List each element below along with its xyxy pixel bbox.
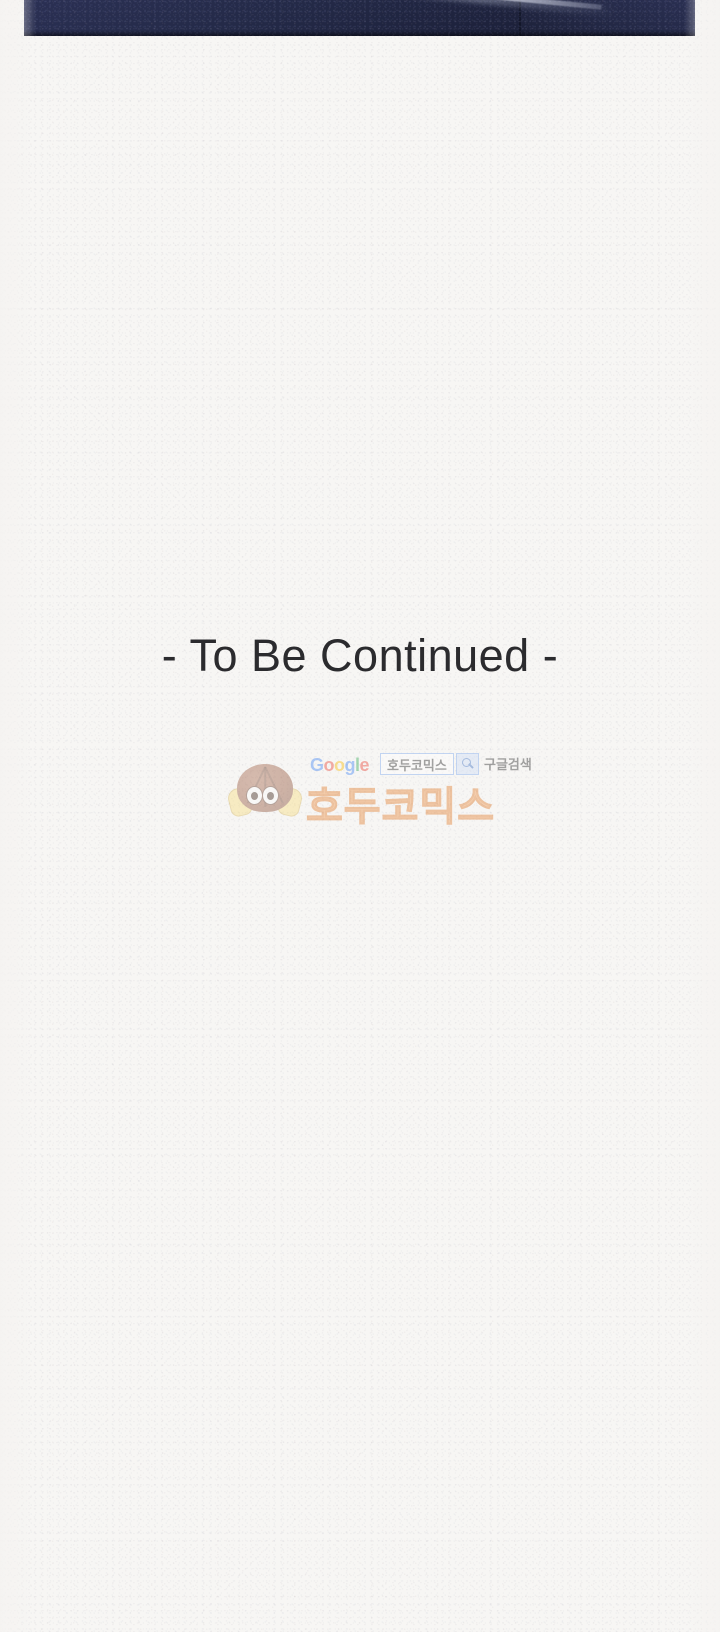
brand-wordmark: 호두코믹스 (306, 774, 495, 832)
shell-line (264, 767, 266, 807)
search-icon[interactable] (456, 753, 479, 775)
shell-line (247, 767, 266, 804)
google-logo: Google (310, 755, 369, 776)
mascot-hand-left (226, 786, 254, 818)
shell-line (264, 767, 283, 804)
to-be-continued-caption: - To Be Continued - (0, 630, 720, 682)
paper-grain-texture (0, 0, 720, 1632)
mascot-hand-right (276, 786, 304, 818)
google-logo-letter-e: e (360, 755, 370, 775)
mascot-pupil (267, 792, 274, 800)
search-input[interactable]: 호두코믹스 (380, 753, 454, 775)
mascot-eye-right (262, 786, 279, 805)
panel-bottom-shadow (24, 30, 695, 36)
comic-panel-strip (24, 0, 695, 36)
mascot-pupil (251, 792, 258, 800)
google-logo-letter-g1: G (310, 755, 324, 775)
google-logo-letter-l: l (355, 755, 360, 775)
mascot-eye-left (246, 786, 263, 805)
mascot-shell (237, 764, 293, 812)
comic-page: - To Be Continued - Google 호두코믹스 구글검색 호두… (0, 0, 720, 1632)
google-logo-letter-o2: o (334, 755, 345, 775)
search-input-value: 호두코믹스 (387, 755, 447, 774)
walnut-mascot-icon (228, 760, 302, 818)
google-logo-letter-o1: o (324, 755, 335, 775)
page-edge-vignette (0, 0, 720, 1632)
google-logo-letter-g2: g (345, 755, 356, 775)
site-watermark: Google 호두코믹스 구글검색 호두코믹스 (228, 752, 478, 820)
google-search-label: 구글검색 (484, 754, 532, 773)
